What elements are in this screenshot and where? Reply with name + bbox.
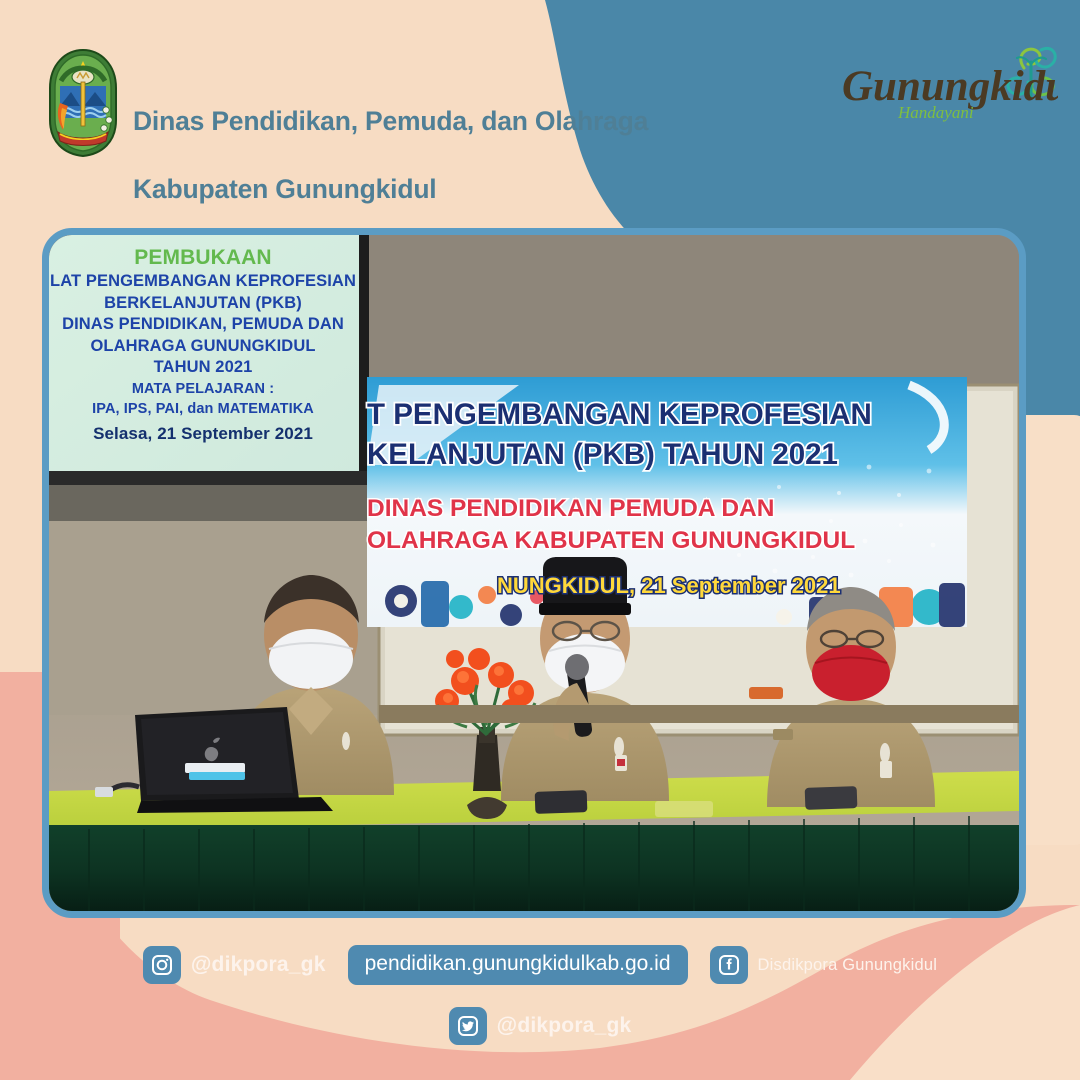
twitter-icon[interactable] (449, 1007, 487, 1045)
banner-line-5: NUNGKIDUL, 21 September 2021 (497, 571, 1007, 601)
dept-title-line-1: Dinas Pendidikan, Pemuda, dan Olahraga (133, 104, 648, 138)
event-photo-card: PEMBUKAAN LAT PENGEMBANGAN KEPROFESIAN B… (42, 228, 1026, 918)
slide-line-2: BERKELANJUTAN (PKB) (42, 293, 373, 315)
slide-line-5: TAHUN 2021 (42, 357, 373, 379)
social-row-secondary: @dikpora_gk (0, 1007, 1080, 1045)
banner-line-3: DINAS PENDIDIKAN PEMUDA DAN (367, 493, 1007, 525)
poster-canvas: Dinas Pendidikan, Pemuda, dan Olahraga K… (0, 0, 1080, 1080)
instagram-link[interactable]: @dikpora_gk (143, 946, 326, 984)
banner-line-2: KELANJUTAN (PKB) TAHUN 2021 (367, 435, 1007, 475)
gunungkidul-regency-crest-icon (44, 48, 122, 158)
instagram-handle: @dikpora_gk (191, 953, 326, 977)
social-footer: @dikpora_gk pendidikan.gunungkidulkab.go… (0, 930, 1080, 1080)
slide-subject-label: MATA PELAJARAN : (42, 379, 373, 399)
slide-line-3: DINAS PENDIDIKAN, PEMUDA DAN (42, 314, 373, 336)
facebook-icon[interactable] (710, 946, 748, 984)
social-row-primary: @dikpora_gk pendidikan.gunungkidulkab.go… (0, 945, 1080, 985)
smartphone-right (805, 786, 858, 810)
backdrop-banner-text: T PENGEMBANGAN KEPROFESIAN KELANJUTAN (P… (367, 395, 1007, 601)
projector-slide-text: PEMBUKAAN LAT PENGEMBANGAN KEPROFESIAN B… (42, 245, 373, 449)
gunungkidul-handayani-logo: Gunungkidul Handayani (838, 38, 1058, 130)
twitter-link[interactable]: @dikpora_gk (449, 1007, 632, 1045)
slide-line-1: LAT PENGEMBANGAN KEPROFESIAN (42, 271, 373, 293)
slide-heading: PEMBUKAAN (42, 245, 373, 271)
instagram-icon[interactable] (143, 946, 181, 984)
banner-line-1: T PENGEMBANGAN KEPROFESIAN (367, 395, 1007, 435)
facebook-page-name: Disdikpora Gunungkidul (758, 956, 938, 975)
banner-line-4: OLAHRAGA KABUPATEN GUNUNGKIDUL (367, 525, 1007, 557)
poster-header: Dinas Pendidikan, Pemuda, dan Olahraga K… (0, 0, 1080, 200)
facebook-link[interactable]: Disdikpora Gunungkidul (710, 946, 938, 984)
website-url-chip[interactable]: pendidikan.gunungkidulkab.go.id (348, 945, 688, 985)
brand-tagline: Handayani (897, 103, 974, 122)
twitter-handle: @dikpora_gk (497, 1014, 632, 1038)
slide-subjects: IPA, IPS, PAI, dan MATEMATIKA (42, 399, 373, 419)
dept-title-line-2: Kabupaten Gunungkidul (133, 172, 648, 206)
slide-line-4: OLAHRAGA GUNUNGKIDUL (42, 336, 373, 358)
smartphone-center (535, 790, 588, 814)
page-title: Dinas Pendidikan, Pemuda, dan Olahraga K… (133, 70, 648, 240)
slide-date: Selasa, 21 September 2021 (42, 419, 373, 449)
